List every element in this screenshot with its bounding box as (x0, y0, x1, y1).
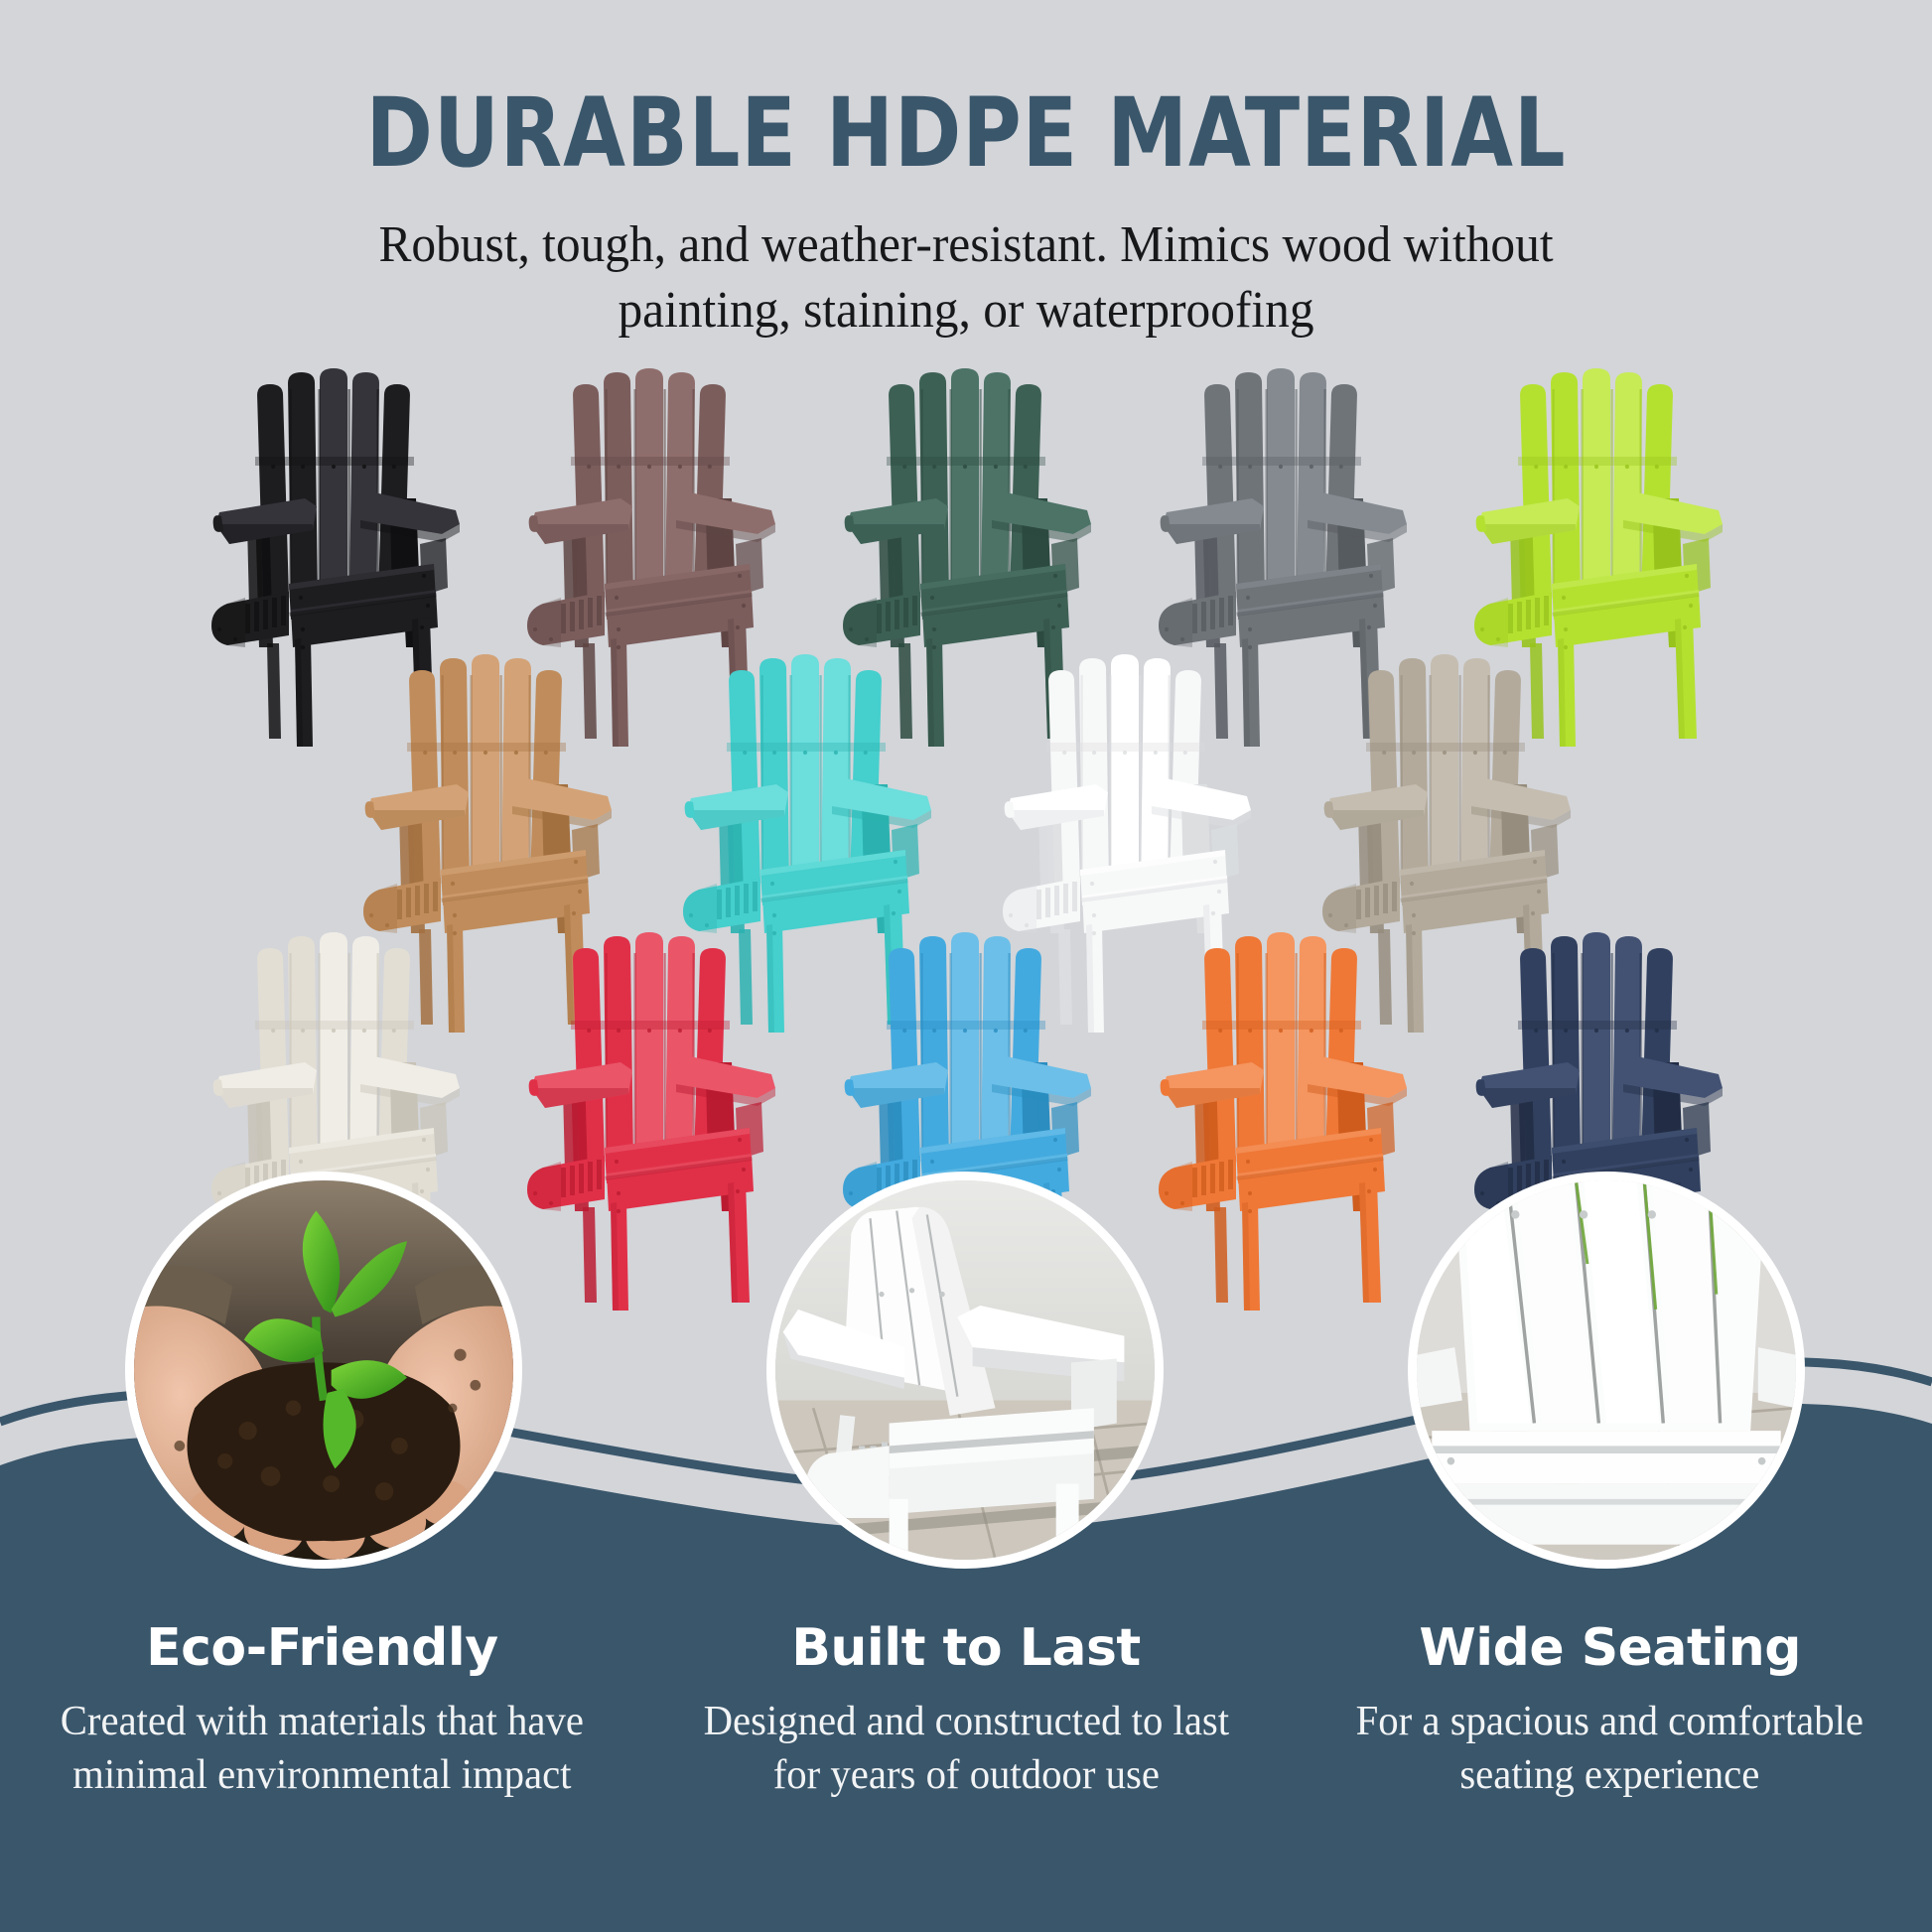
white-chair-wide-seat-closeup-photo (1408, 1172, 1805, 1569)
feature-photo-3 (1408, 1172, 1805, 1569)
feature-title: Eco-Friendly (26, 1618, 619, 1678)
header-block: DURABLE HDPE MATERIAL Robust, tough, and… (0, 0, 1932, 345)
feature-2: Built to LastDesigned and constructed to… (644, 1618, 1289, 1803)
page-subtitle: Robust, tough, and weather-resistant. Mi… (297, 183, 1636, 345)
infographic-page: DURABLE HDPE MATERIAL Robust, tough, and… (0, 0, 1932, 1932)
feature-photo-2 (766, 1172, 1164, 1569)
feature-title: Built to Last (670, 1618, 1263, 1678)
feature-description: Designed and constructed to last for yea… (679, 1696, 1254, 1803)
feature-3: Wide SeatingFor a spacious and comfortab… (1288, 1618, 1932, 1803)
feature-1: Eco-FriendlyCreated with materials that … (0, 1618, 644, 1803)
feature-photo-1 (125, 1172, 522, 1569)
feature-description: Created with materials that have minimal… (35, 1696, 610, 1803)
feature-text-row: Eco-FriendlyCreated with materials that … (0, 1618, 1932, 1803)
white-adirondack-chair-on-patio-photo (766, 1172, 1164, 1569)
hands-holding-soil-seedling-photo (125, 1172, 522, 1569)
feature-description: For a spacious and comfortable seating e… (1322, 1696, 1897, 1803)
soil-seedling-scene (134, 1180, 513, 1560)
page-title: DURABLE HDPE MATERIAL (58, 0, 1873, 183)
feature-photo-circles (0, 1172, 1932, 1598)
feature-title: Wide Seating (1313, 1618, 1906, 1678)
wide-seat-closeup-scene (1417, 1180, 1796, 1560)
white-chair-patio-scene (775, 1180, 1155, 1560)
